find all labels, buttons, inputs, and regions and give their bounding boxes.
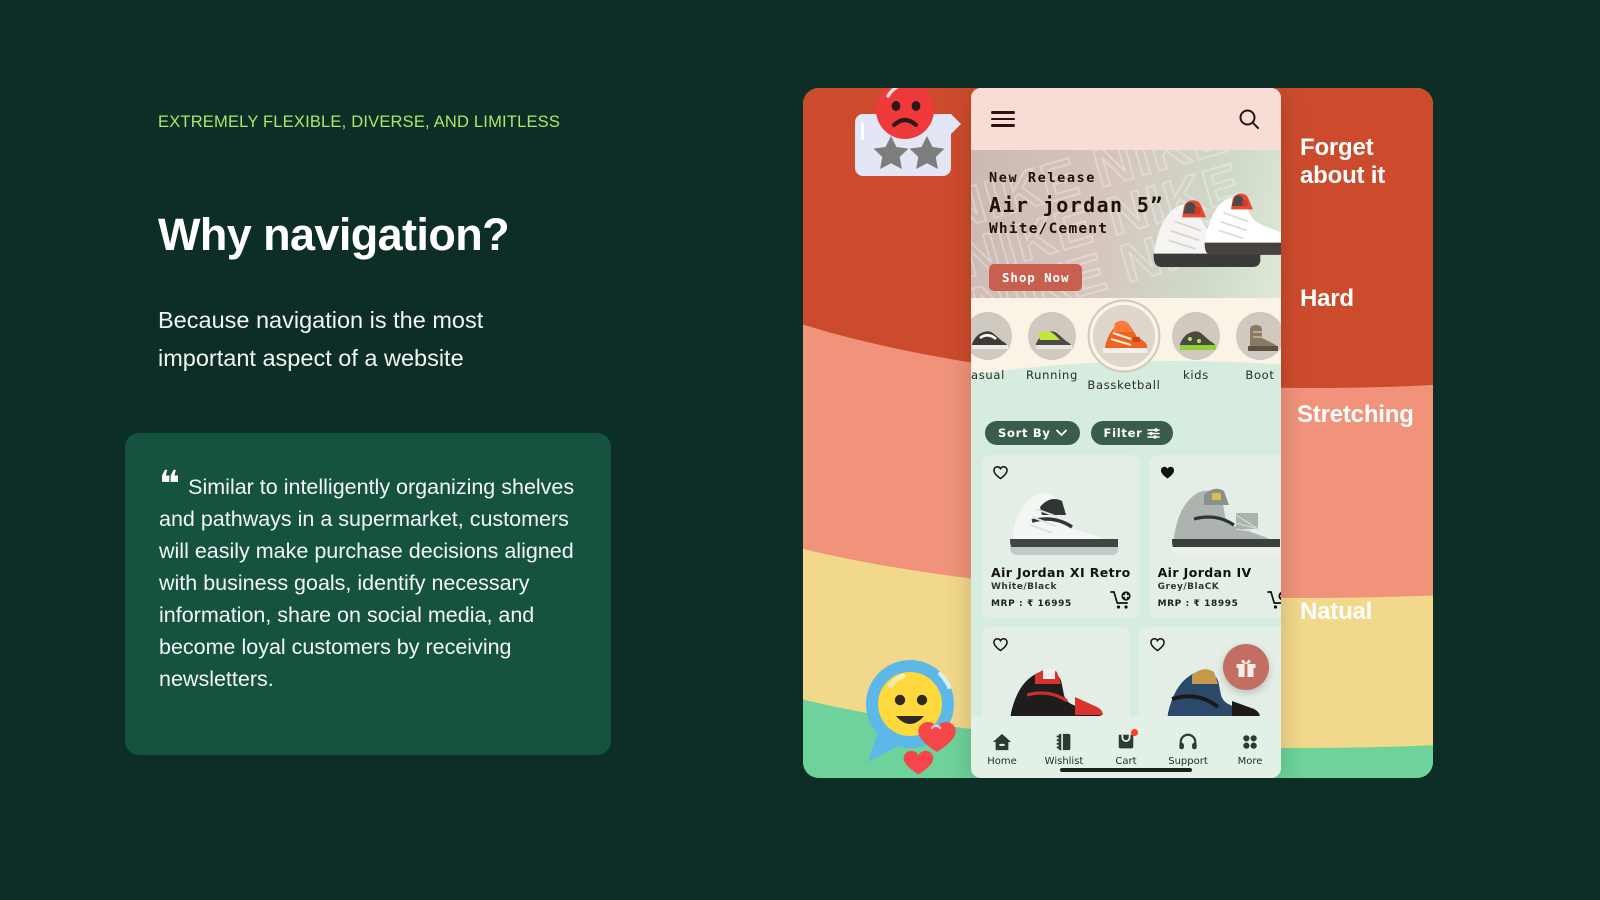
category-item-running[interactable]: Running [1023, 312, 1081, 382]
add-to-cart-icon[interactable] [1110, 590, 1132, 610]
add-to-cart-icon[interactable] [1267, 590, 1281, 610]
product-card[interactable]: Air Jordan IV Grey/BlaCK MRP : ₹ 18995 [1149, 455, 1281, 618]
subheadline-text: Because navigation is the most important… [158, 301, 578, 377]
nav-item-more[interactable]: More [1219, 732, 1281, 767]
app-header [971, 88, 1281, 150]
heart-icon-large [918, 722, 955, 752]
heart-icon[interactable] [992, 636, 1009, 652]
heart-icon-filled[interactable] [1159, 464, 1176, 480]
hero-banner[interactable]: NIKE NIKENIKE NIKENIKE NIKENIKE NIKE New… [971, 150, 1281, 298]
nav-item-wishlist[interactable]: Wishlist [1033, 732, 1095, 767]
arc-label-stretching: Stretching [1297, 401, 1414, 429]
shop-now-button[interactable]: Shop Now [989, 264, 1082, 291]
search-icon[interactable] [1237, 107, 1261, 131]
grid-dots-icon [1240, 732, 1260, 752]
product-name: Air Jordan XI Retro [991, 565, 1131, 580]
arc-label-natual: Natual [1300, 598, 1372, 626]
category-label: Running [1023, 368, 1081, 382]
kids-shoe-icon [1172, 312, 1220, 360]
left-content: EXTREMELY FLEXIBLE, DIVERSE, AND LIMITLE… [158, 112, 658, 377]
category-label: Boot [1231, 368, 1281, 382]
category-item-bassketball[interactable]: Bassketball [1087, 305, 1161, 392]
product-card[interactable]: Air Jordan XI Retro White/Black MRP : ₹ … [982, 455, 1140, 618]
product-image [1158, 463, 1281, 559]
home-icon [992, 732, 1012, 752]
sliders-icon [1147, 428, 1160, 439]
smiley-sticker [848, 648, 976, 778]
slide-canvas: EXTREMELY FLEXIBLE, DIVERSE, AND LIMITLE… [0, 0, 1600, 900]
headset-icon [1178, 732, 1198, 752]
cart-badge [1131, 729, 1138, 736]
quote-block: ❝Similar to intelligently organizing she… [159, 471, 575, 695]
gift-icon [1234, 655, 1258, 679]
hamburger-icon[interactable] [991, 107, 1015, 132]
sort-by-button[interactable]: Sort By [985, 421, 1080, 445]
home-indicator [1060, 768, 1192, 772]
filter-label: Filter [1104, 426, 1143, 440]
hero-subtitle: White/Cement [989, 221, 1164, 237]
nav-label: Home [987, 756, 1017, 767]
nav-label: Support [1168, 756, 1208, 767]
nav-label: More [1238, 756, 1263, 767]
mockup-panel: Forget about it Hard Stretching Natual [803, 88, 1433, 778]
nav-item-home[interactable]: Home [971, 732, 1033, 767]
category-item-boot[interactable]: Boot [1231, 312, 1281, 382]
product-name: Air Jordan IV [1158, 565, 1281, 580]
boot-icon [1236, 312, 1281, 360]
hero-eyebrow: New Release [989, 170, 1164, 186]
nav-item-support[interactable]: Support [1157, 732, 1219, 767]
product-image [991, 463, 1131, 559]
product-price: MRP : ₹ 18995 [1158, 599, 1281, 609]
chevron-down-icon [1056, 429, 1067, 437]
arc-label-forget-about-it: Forget about it [1300, 134, 1433, 189]
hero-title: Air jordan 5” [989, 193, 1164, 217]
casual-shoe-icon [971, 312, 1012, 360]
heart-icon[interactable] [1149, 636, 1166, 652]
eyebrow-text: EXTREMELY FLEXIBLE, DIVERSE, AND LIMITLE… [158, 112, 658, 133]
sort-by-label: Sort By [998, 426, 1051, 440]
category-label: asual [971, 368, 1017, 382]
category-item-kids[interactable]: kids [1167, 312, 1225, 382]
category-item-casual[interactable]: asual [971, 312, 1017, 382]
nav-label: Wishlist [1045, 756, 1084, 767]
category-carousel[interactable]: asual Running [971, 298, 1281, 413]
product-color: Grey/BlaCK [1158, 582, 1281, 592]
phone-mockup: NIKE NIKENIKE NIKENIKE NIKENIKE NIKE New… [971, 88, 1281, 778]
category-label: Bassketball [1087, 378, 1161, 392]
gift-fab-button[interactable] [1223, 644, 1269, 690]
arc-label-hard: Hard [1300, 285, 1354, 313]
nav-item-cart[interactable]: Cart [1095, 732, 1157, 767]
heart-icon-small [904, 751, 934, 775]
heart-icon[interactable] [992, 464, 1009, 480]
hero-text-group: New Release Air jordan 5” White/Cement [989, 170, 1164, 237]
running-shoe-icon [1028, 312, 1076, 360]
review-sticker [841, 88, 969, 195]
category-label: kids [1167, 368, 1225, 382]
basketball-shoe-icon [1093, 305, 1155, 367]
page-title: Why navigation? [158, 211, 658, 258]
quote-card: ❝Similar to intelligently organizing she… [125, 433, 611, 755]
wishlist-icon [1054, 732, 1074, 752]
filter-bar: Sort By Filter [971, 413, 1281, 445]
filter-button[interactable]: Filter [1091, 421, 1174, 445]
quote-text: Similar to intelligently organizing shel… [159, 475, 574, 691]
product-list: Air Jordan XI Retro White/Black MRP : ₹ … [971, 445, 1281, 740]
nav-label: Cart [1115, 756, 1136, 767]
product-grid-row-1: Air Jordan XI Retro White/Black MRP : ₹ … [982, 455, 1270, 618]
